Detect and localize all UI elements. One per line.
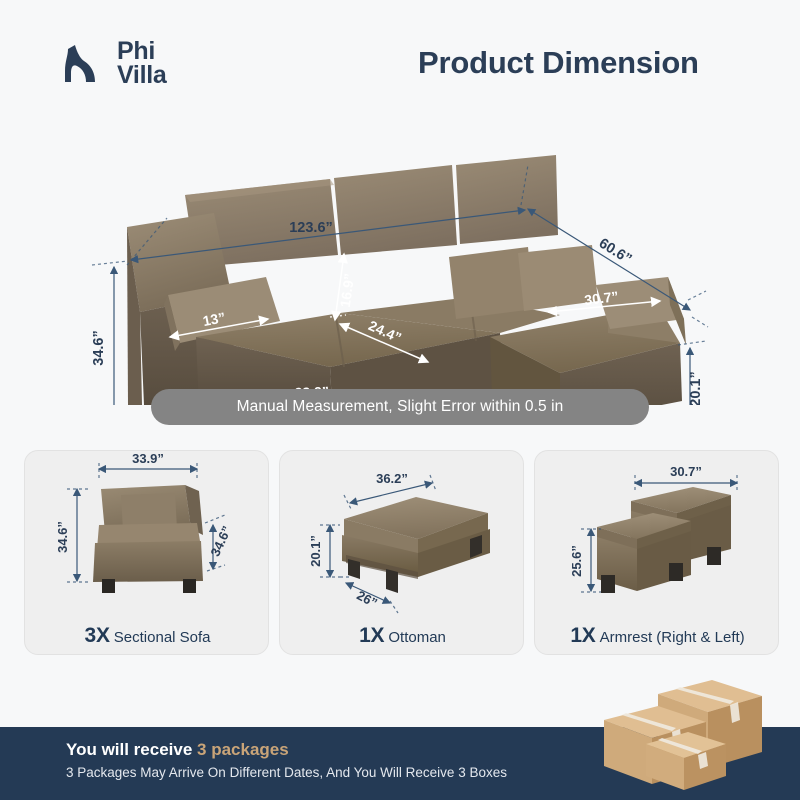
footer-subtitle: 3 Packages May Arrive On Different Dates…	[66, 765, 507, 780]
phi-villa-mark-icon	[62, 41, 108, 87]
card2-dim-height: 20.1”	[308, 535, 323, 567]
brand-name: Phi Villa	[117, 40, 166, 88]
card2-qty: 1X	[359, 624, 384, 647]
ottoman-shape	[342, 497, 490, 593]
card-sectional-sofa-caption: 3XSectional Sofa	[25, 624, 270, 648]
card1-dim-width: 33.9”	[132, 451, 164, 466]
measurement-note-banner: Manual Measurement, Slight Error within …	[151, 389, 649, 425]
brand-logo: Phi Villa	[62, 40, 166, 88]
component-cards: 33.9” 34.6” 34.6” 3XSectional Sofa	[0, 450, 800, 665]
armrest-front-unit	[597, 513, 691, 593]
sectional-sofa-illustration: 33.9” 34.6” 34.6”	[25, 451, 270, 619]
card3-name: Armrest (Right & Left)	[600, 629, 745, 646]
hero-dim-overall-width: 123.6”	[289, 220, 333, 236]
card2-dim-depth: 26”	[354, 587, 380, 610]
card-armrest[interactable]: 30.7” 25.6” 1XArmrest (Right & Left)	[534, 450, 779, 655]
card1-name: Sectional Sofa	[114, 629, 211, 646]
card-sectional-sofa[interactable]: 33.9” 34.6” 34.6” 3XSectional Sofa	[24, 450, 269, 655]
header: Phi Villa Product Dimension	[0, 0, 800, 112]
footer-title-highlight: 3 packages	[197, 740, 289, 759]
cardboard-boxes-icon	[600, 672, 795, 792]
card-ottoman[interactable]: 36.2” 20.1” 26” 1XOttoman	[279, 450, 524, 655]
card3-qty: 1X	[570, 624, 595, 647]
ottoman-illustration: 36.2” 20.1” 26”	[280, 451, 525, 619]
card-ottoman-caption: 1XOttoman	[280, 624, 525, 648]
card1-dim-height: 34.6”	[55, 521, 70, 553]
card3-dim-width: 30.7”	[670, 464, 702, 479]
card1-dim-depth: 34.6”	[207, 524, 234, 559]
card1-qty: 3X	[84, 624, 109, 647]
brand-name-line2: Villa	[117, 64, 166, 88]
product-dimension-infographic: Phi Villa Product Dimension	[0, 0, 800, 800]
card3-dim-height: 25.6”	[569, 545, 584, 577]
footer-title-prefix: You will receive	[66, 740, 197, 759]
hero-dim-chaise-height: 20.1”	[688, 371, 704, 405]
sofa-illustration	[127, 155, 686, 405]
sofa-module-shape	[93, 485, 203, 593]
hero-dim-backrest-height: 16.9”	[337, 272, 358, 308]
card2-dim-width: 36.2”	[376, 471, 408, 486]
hero-dim-overall-height: 34.6”	[91, 330, 107, 365]
armrest-illustration: 30.7” 25.6”	[535, 451, 780, 619]
hero-dimension-diagram: 123.6” 60.6” 34.6” 34.6” 20.1”	[0, 105, 800, 405]
card2-name: Ottoman	[388, 629, 446, 646]
card-armrest-caption: 1XArmrest (Right & Left)	[535, 624, 780, 648]
footer-title: You will receive 3 packages	[66, 740, 289, 760]
page-title: Product Dimension	[418, 45, 699, 81]
